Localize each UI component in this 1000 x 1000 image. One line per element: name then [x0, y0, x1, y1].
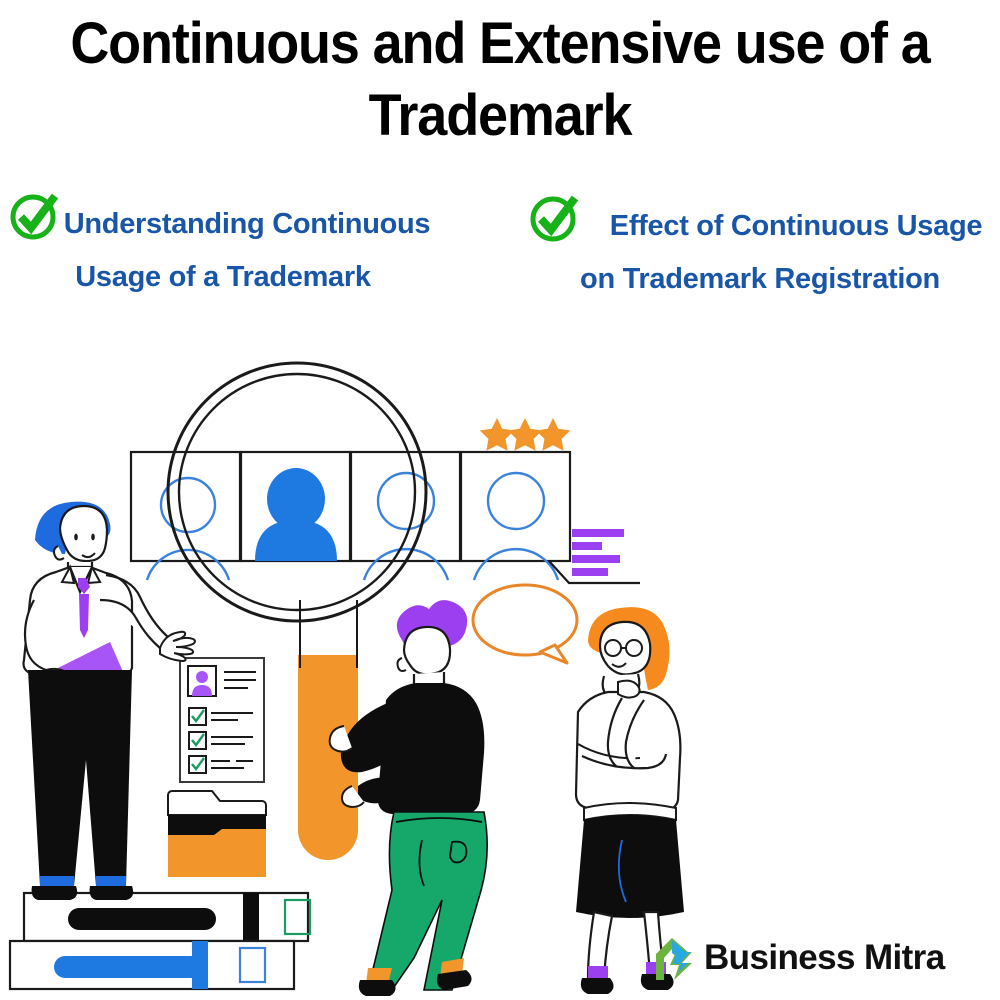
business-mitra-logo[interactable]: Business Mitra: [652, 932, 945, 984]
magnifying-glass: [168, 363, 426, 621]
candidate-avatar-row: [131, 452, 640, 583]
magnifier-handle: [298, 600, 358, 860]
checklist-document: [180, 658, 264, 782]
document-folder: [168, 791, 266, 877]
book-top: [24, 893, 310, 941]
business-mitra-mark-icon: [652, 932, 698, 984]
speech-bubble: [473, 585, 577, 663]
page-title: Continuous and Extensive use of a Tradem…: [35, 8, 965, 152]
selected-avatar: [255, 468, 337, 561]
rating-stars: [480, 418, 570, 451]
book-bottom: [10, 941, 294, 989]
logo-text: Business Mitra: [704, 938, 945, 978]
poster-canvas: Continuous and Extensive use of a Tradem…: [0, 0, 1000, 1000]
person-with-magnifier: [330, 600, 488, 996]
person-presenter: [24, 502, 196, 900]
heading-effect-of-continuous-usage: Effect of Continuous Usage on Trademark …: [530, 200, 990, 306]
purple-text-bars: [572, 529, 624, 576]
heading-understanding-continuous-usage: Understanding Continuous Usage of a Trad…: [8, 198, 438, 304]
